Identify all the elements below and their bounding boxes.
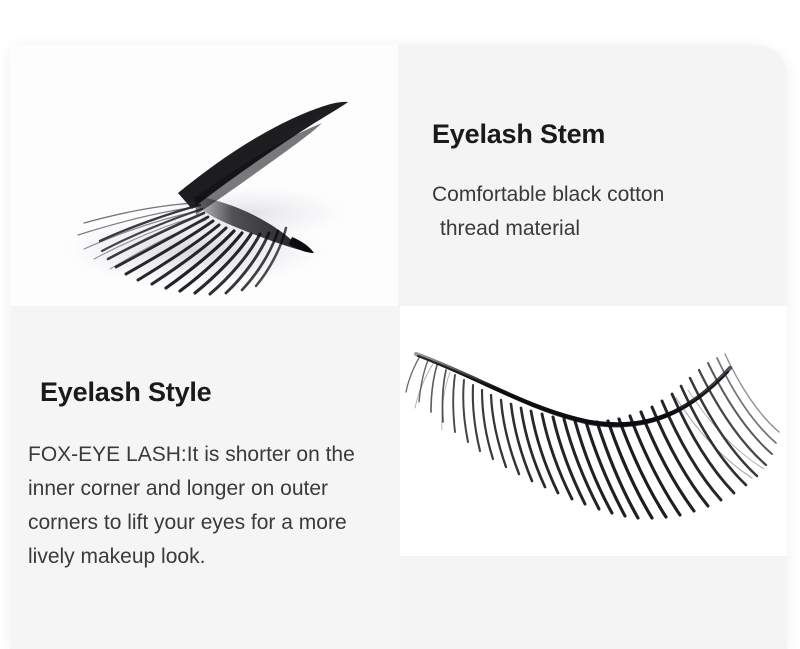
fox-eye-lash-profile-image — [400, 306, 787, 556]
eyelash-style-heading: Eyelash Style — [40, 376, 212, 408]
eyelash-stem-heading: Eyelash Stem — [432, 118, 605, 150]
eyelash-style-photo-underlay — [400, 556, 787, 649]
product-infographic: Eyelash Stem Comfortable black cotton th… — [0, 0, 800, 649]
eyelash-stem-description-line-1: Comfortable black cotton — [432, 183, 664, 206]
eyelash-stem-text-panel — [398, 45, 787, 306]
eyelash-style-photo-card — [400, 306, 787, 556]
eyelash-stem-photo-card — [10, 45, 400, 306]
eyelash-strip-closeup-image — [10, 45, 400, 306]
eyelash-stem-description-line-2: thread material — [432, 212, 762, 246]
eyelash-stem-description: Comfortable black cotton thread material — [432, 178, 762, 246]
eyelash-style-description: FOX-EYE LASH:It is shorter on the inner … — [28, 438, 390, 574]
